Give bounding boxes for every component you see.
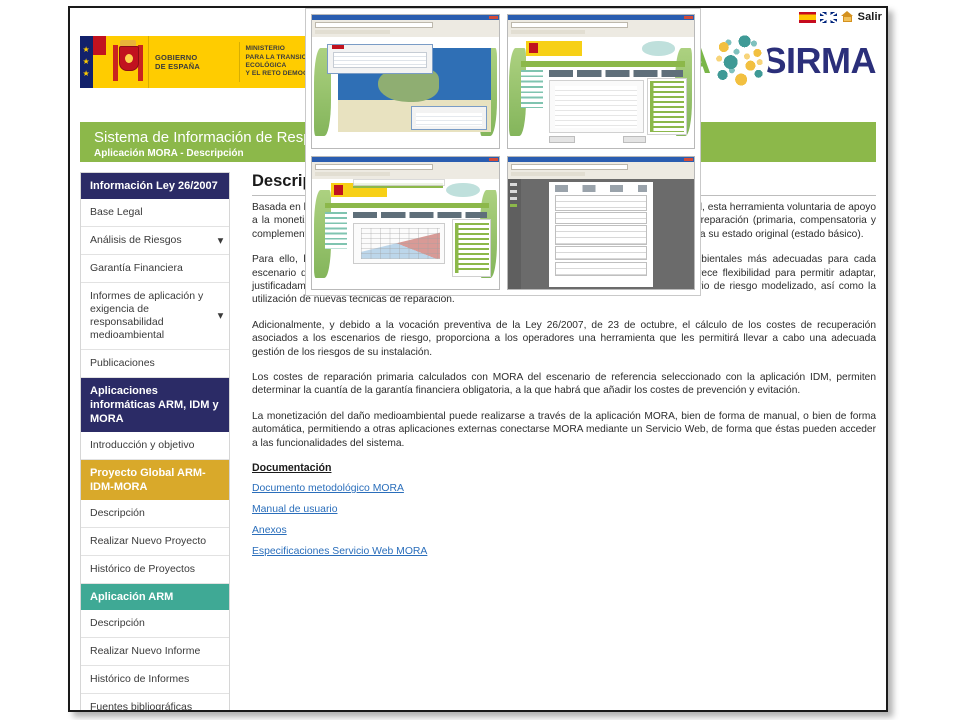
content-paragraph: La monetización del daño medioambiental … — [252, 410, 876, 450]
sidebar-item-label: Fuentes bibliográficas Aplicación — [90, 701, 192, 712]
sidebar-item[interactable]: Descripción — [81, 500, 229, 528]
sidebar-item[interactable]: Histórico de Proyectos — [81, 556, 229, 584]
mora-map-screenshot[interactable] — [311, 14, 500, 149]
spain-flag-bar-icon: ★ ★ ★ — [80, 36, 106, 88]
documentation-heading: Documentación — [252, 462, 876, 474]
home-icon[interactable] — [841, 11, 854, 23]
sidebar-nav: Información Ley 26/2007Base LegalAnálisi… — [80, 172, 230, 712]
documentation-link-list: Documento metodológico MORAManual de usu… — [252, 483, 876, 557]
sidebar-item[interactable]: Descripción — [81, 610, 229, 638]
chevron-down-icon[interactable]: ▾ — [218, 310, 223, 323]
sidebar-group-header: Información Ley 26/2007 — [81, 173, 229, 199]
sidebar-item[interactable]: Informes de aplicación y exigencia de re… — [81, 283, 229, 350]
sidebar-item[interactable]: Análisis de Riesgos▾ — [81, 227, 229, 255]
sidebar-item[interactable]: Introducción y objetivo — [81, 432, 229, 460]
sidebar-item-label: Informes de aplicación y exigencia de re… — [90, 290, 203, 341]
sidebar-item[interactable]: Fuentes bibliográficas Aplicación — [81, 694, 229, 712]
sidebar-item-label: Análisis de Riesgos — [90, 234, 182, 246]
sidebar-group-header: Aplicación ARM — [81, 584, 229, 610]
documentation-link[interactable]: Anexos — [252, 525, 876, 536]
sidebar-item[interactable]: Base Legal — [81, 199, 229, 227]
content-paragraph: Adicionalmente, y debido a la vocación p… — [252, 319, 876, 359]
documentation-link[interactable]: Documento metodológico MORA — [252, 483, 876, 494]
screenshot-gallery — [305, 8, 701, 296]
documentation-link[interactable]: Manual de usuario — [252, 504, 876, 515]
sidebar-item-label: Introducción y objetivo — [90, 439, 194, 451]
sidebar-item[interactable]: Realizar Nuevo Proyecto — [81, 528, 229, 556]
sidebar-item-label: Realizar Nuevo Proyecto — [90, 535, 206, 547]
sidebar-item-label: Histórico de Proyectos — [90, 563, 195, 575]
sidebar-item-label: Publicaciones — [90, 357, 155, 369]
content-paragraph: Los costes de reparación primaria calcul… — [252, 371, 876, 398]
sidebar-item[interactable]: Realizar Nuevo Informe — [81, 638, 229, 666]
header-divider — [239, 42, 240, 82]
documentation-link[interactable]: Especificaciones Servicio Web MORA — [252, 546, 876, 557]
sidebar-item[interactable]: Publicaciones — [81, 350, 229, 378]
utility-bar: Salir — [799, 11, 882, 23]
sidebar-item-label: Histórico de Informes — [90, 673, 189, 685]
sidebar-group-header: Proyecto Global ARM-IDM-MORA — [81, 460, 229, 500]
sidebar-item-label: Base Legal — [90, 206, 143, 218]
logout-link[interactable]: Salir — [858, 11, 882, 23]
sidebar-item[interactable]: Garantía Financiera — [81, 255, 229, 283]
mora-form-screenshot[interactable] — [507, 14, 696, 149]
sidebar-item-label: Garantía Financiera — [90, 262, 183, 274]
gob-line1: GOBIERNO — [155, 53, 233, 62]
uk-flag-icon[interactable] — [820, 12, 837, 23]
gob-line2: DE ESPAÑA — [155, 62, 233, 71]
spain-coat-of-arms-icon — [108, 36, 148, 88]
browser-page: Salir ★ ★ ★ GOBIERNO DE E — [68, 6, 888, 712]
mora-chart-screenshot[interactable] — [311, 156, 500, 291]
screen-canvas: Salir ★ ★ ★ GOBIERNO DE E — [0, 0, 960, 720]
sidebar-item-label: Descripción — [90, 617, 145, 629]
spain-flag-icon[interactable] — [799, 12, 816, 23]
sirma-wordmark: SIRMA — [763, 43, 877, 79]
mora-report-pdf-screenshot[interactable] — [507, 156, 696, 291]
sidebar-item-label: Realizar Nuevo Informe — [90, 645, 200, 657]
sidebar-group-header: Aplicaciones informáticas ARM, IDM y MOR… — [81, 378, 229, 432]
sirma-dot-icon — [711, 32, 769, 90]
sidebar-item-label: Descripción — [90, 507, 145, 519]
chevron-down-icon[interactable]: ▾ — [218, 234, 223, 247]
sidebar-item[interactable]: Histórico de Informes — [81, 666, 229, 694]
